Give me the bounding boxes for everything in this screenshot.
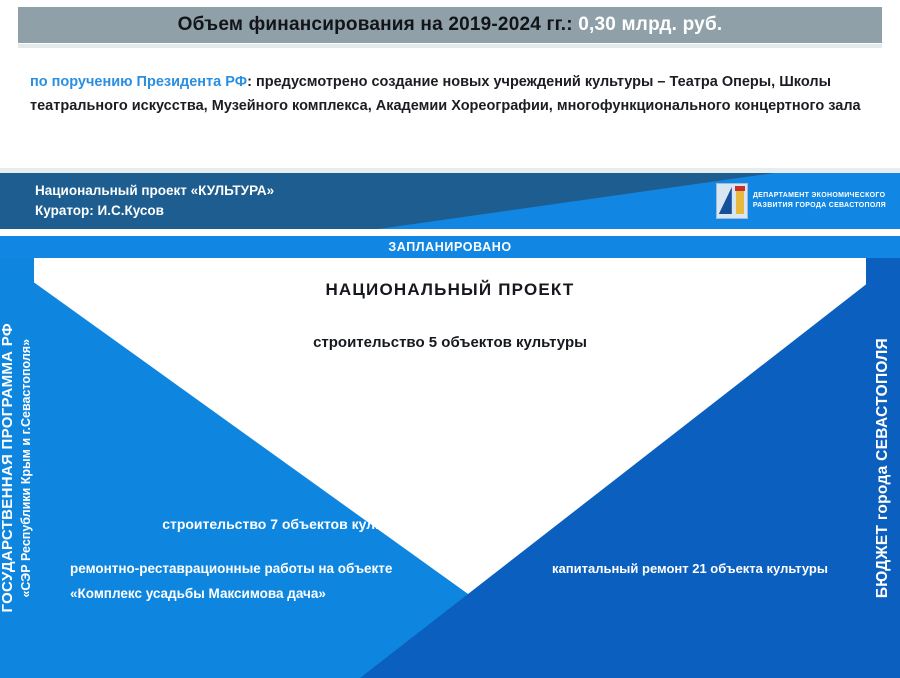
project-name: Национальный проект «КУЛЬТУРА» xyxy=(35,181,274,201)
state-program-rail-line1: ГОСУДАРСТВЕННАЯ ПРОГРАММА РФ xyxy=(0,323,16,613)
state-program-rail-text: ГОСУДАРСТВЕННАЯ ПРОГРАММА РФ «СЭР Респуб… xyxy=(0,323,34,613)
project-header-band: Национальный проект «КУЛЬТУРА» Куратор: … xyxy=(0,173,900,229)
sevastopol-emblem-icon xyxy=(716,183,748,219)
department-logo: ДЕПАРТАМЕНТ ЭКОНОМИЧЕСКОГО РАЗВИТИЯ ГОРО… xyxy=(716,183,886,219)
sail-shape xyxy=(719,187,732,214)
city-budget-rail-line: БЮДЖЕТ города СЕВАСТОПОЛЯ xyxy=(874,338,891,598)
funding-amount-value: 0,30 млрд. руб. xyxy=(578,14,722,35)
restoration-line-a: ремонтно-реставрационные работы на объек… xyxy=(70,556,490,581)
department-logo-line1: ДЕПАРТАМЕНТ ЭКОНОМИЧЕСКОГО xyxy=(753,191,886,201)
city-budget-item-overhaul: капитальный ремонт 21 объекта культуры xyxy=(520,561,860,576)
state-program-item-restoration: ремонтно-реставрационные работы на объек… xyxy=(70,556,490,606)
planned-strip-label: ЗАПЛАНИРОВАНО xyxy=(388,240,511,254)
cap-shape xyxy=(735,186,745,191)
national-project-subtitle: строительство 5 объектов культуры xyxy=(0,334,900,351)
state-program-rail: ГОСУДАРСТВЕННАЯ ПРОГРАММА РФ «СЭР Респуб… xyxy=(0,258,34,678)
national-project-title: НАЦИОНАЛЬНЫЙ ПРОЕКТ xyxy=(0,280,900,300)
project-header-text: Национальный проект «КУЛЬТУРА» Куратор: … xyxy=(35,181,274,221)
president-note-accent: по поручению Президента РФ xyxy=(30,74,247,90)
slide-root: Объем финансирования на 2019-2024 гг.: 0… xyxy=(0,0,900,678)
president-note: по поручению Президента РФ: предусмотрен… xyxy=(30,70,870,118)
department-logo-line2: РАЗВИТИЯ ГОРОДА СЕВАСТОПОЛЯ xyxy=(753,201,886,211)
column-shape xyxy=(736,188,744,214)
project-curator: Куратор: И.С.Кусов xyxy=(35,201,274,221)
department-logo-text: ДЕПАРТАМЕНТ ЭКОНОМИЧЕСКОГО РАЗВИТИЯ ГОРО… xyxy=(753,191,886,211)
funding-sources-diagram: НАЦИОНАЛЬНЫЙ ПРОЕКТ строительство 5 объе… xyxy=(0,258,900,678)
restoration-line-b: «Комплекс усадьбы Максимова дача» xyxy=(70,581,490,606)
funding-title-label: Объем финансирования на 2019-2024 гг.: xyxy=(178,14,579,35)
city-budget-rail: БЮДЖЕТ города СЕВАСТОПОЛЯ xyxy=(866,258,900,678)
city-budget-rail-text: БЮДЖЕТ города СЕВАСТОПОЛЯ xyxy=(874,338,892,598)
planned-strip: ЗАПЛАНИРОВАНО xyxy=(0,236,900,258)
state-program-rail-line2: «СЭР Республики Крым и г.Севастополя» xyxy=(19,339,33,598)
state-program-item-construction: строительство 7 объектов культуры xyxy=(95,516,485,532)
funding-title-text: Объем финансирования на 2019-2024 гг.: 0… xyxy=(178,14,723,36)
title-divider xyxy=(18,44,882,48)
funding-title-bar: Объем финансирования на 2019-2024 гг.: 0… xyxy=(18,7,882,43)
